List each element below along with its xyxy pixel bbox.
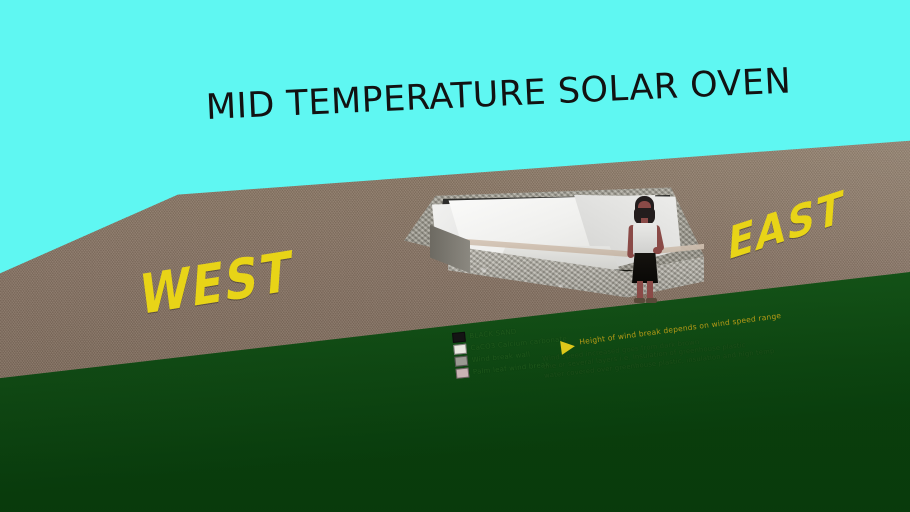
legend-swatch-palm-leaf xyxy=(456,368,470,379)
person-hand-right xyxy=(653,247,662,254)
person-figure xyxy=(622,196,666,304)
person-shoe-right xyxy=(646,298,657,303)
legend-swatch-calcium-carbonate xyxy=(453,344,467,355)
solar-oven-rendering: WEST EAST MID TEMPERATURE SOLAR OVEN BLA… xyxy=(0,0,910,512)
legend-swatch-wind-break-wall xyxy=(454,356,468,367)
legend-swatch-black-sand xyxy=(452,332,466,343)
person-shoe-left xyxy=(634,298,645,303)
person-skirt xyxy=(632,253,658,283)
